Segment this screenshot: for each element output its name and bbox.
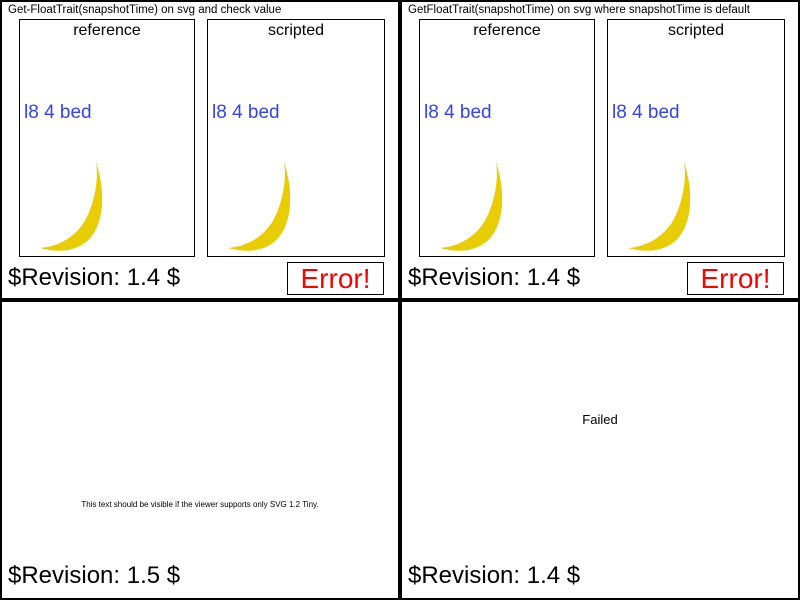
trait-value-text: l8 4 bed xyxy=(612,102,680,124)
reference-label: reference xyxy=(20,22,194,40)
status-badge-text: Error! xyxy=(301,265,371,293)
scripted-label: scripted xyxy=(608,22,784,40)
tiny-support-note: This text should be visible if the viewe… xyxy=(2,500,398,509)
revision-label: $Revision: 1.4 $ xyxy=(408,264,580,292)
status-badge-text: Error! xyxy=(701,265,771,293)
trait-value-text: l8 4 bed xyxy=(24,102,92,124)
crescent-moon-icon xyxy=(222,160,332,257)
trait-value-text: l8 4 bed xyxy=(424,102,492,124)
test-panel-top-right: GetFloatTrait(snapshotTime) on svg where… xyxy=(400,0,800,300)
revision-label: $Revision: 1.4 $ xyxy=(408,562,580,590)
reference-subpanel: reference l8 4 bed xyxy=(419,19,595,257)
revision-label: $Revision: 1.5 $ xyxy=(8,562,180,590)
scripted-subpanel: scripted l8 4 bed xyxy=(207,19,385,257)
test-title: GetFloatTrait(snapshotTime) on svg where… xyxy=(408,4,750,17)
scripted-label: scripted xyxy=(208,22,384,40)
reference-subpanel: reference l8 4 bed xyxy=(19,19,195,257)
test-panel-bottom-right: Failed $Revision: 1.4 $ xyxy=(400,300,800,600)
test-panel-top-left: Get-FloatTrait(snapshotTime) on svg and … xyxy=(0,0,400,300)
test-harness-screen: Get-FloatTrait(snapshotTime) on svg and … xyxy=(0,0,800,600)
crescent-moon-icon xyxy=(434,160,544,257)
trait-value-text: l8 4 bed xyxy=(212,102,280,124)
failed-status-text: Failed xyxy=(402,412,798,427)
revision-label: $Revision: 1.4 $ xyxy=(8,264,180,292)
status-badge: Error! xyxy=(287,262,384,295)
scripted-subpanel: scripted l8 4 bed xyxy=(607,19,785,257)
test-title: Get-FloatTrait(snapshotTime) on svg and … xyxy=(8,4,281,17)
test-panel-bottom-left: This text should be visible if the viewe… xyxy=(0,300,400,600)
crescent-moon-icon xyxy=(34,160,144,257)
status-badge: Error! xyxy=(687,262,784,295)
reference-label: reference xyxy=(420,22,594,40)
crescent-moon-icon xyxy=(622,160,732,257)
